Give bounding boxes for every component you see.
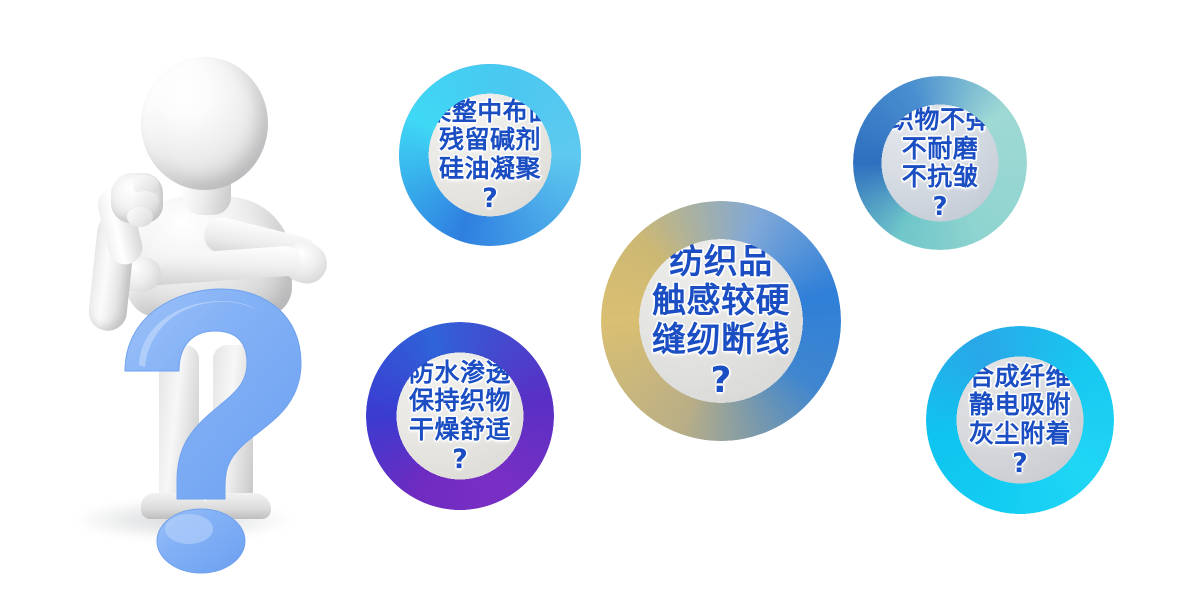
bubble-water-repellency-line-3: 干燥舒适 xyxy=(409,416,511,445)
bubble-textile-handfeel-question-mark: ? xyxy=(711,363,732,399)
bubble-water-repellency-content: 防水渗透 保持织物 干燥舒适 ? xyxy=(369,359,551,474)
bubble-fabric-performance-line-1: 织物不弹 xyxy=(889,106,991,135)
bubble-static-dust-line-2: 静电吸附 xyxy=(969,391,1071,420)
bubble-fabric-performance-question-mark: ? xyxy=(932,194,947,220)
bubble-water-repellency[interactable]: 防水渗透 保持织物 干燥舒适 ? xyxy=(369,325,551,507)
bubble-static-dust-line-3: 灰尘附着 xyxy=(969,420,1071,449)
bubble-water-repellency-line-1: 防水渗透 xyxy=(409,359,511,388)
bubble-static-dust[interactable]: 合成纤维 静电吸附 灰尘附着 ? xyxy=(929,329,1111,511)
bubble-textile-handfeel-line-2: 触感较硬 xyxy=(652,282,790,321)
bubble-static-dust-content: 合成纤维 静电吸附 灰尘附着 ? xyxy=(929,363,1111,478)
bubble-dyeing[interactable]: 染整中布面 残留碱剂 硅油凝聚 ? xyxy=(402,67,578,243)
bubble-textile-handfeel[interactable]: 纺织品 触感较硬 缝纫断线 ? xyxy=(604,204,838,438)
bubble-water-repellency-line-2: 保持织物 xyxy=(409,387,511,416)
bubble-dyeing-line-1: 染整中布面 xyxy=(426,98,554,127)
character-head xyxy=(141,57,268,190)
bubble-fabric-performance[interactable]: 织物不弹 不耐磨 不抗皱 ? xyxy=(856,79,1024,247)
bubble-dyeing-question-mark: ? xyxy=(482,185,498,212)
bubble-dyeing-line-2: 残留碱剂 xyxy=(439,126,541,155)
bubble-textile-handfeel-line-3: 缝纫断线 xyxy=(652,321,790,360)
large-question-mark-icon xyxy=(115,285,325,575)
character-knuckle xyxy=(127,207,153,227)
bubble-textile-handfeel-line-1: 纺织品 xyxy=(669,243,773,282)
bubble-fabric-performance-line-3: 不抗皱 xyxy=(902,163,979,192)
poster-canvas: 染整中布面 残留碱剂 硅油凝聚 ? 防水渗透 保持织物 干燥舒适 ? 纺织品 触… xyxy=(0,0,1200,600)
bubble-fabric-performance-line-2: 不耐磨 xyxy=(902,135,979,164)
bubble-textile-handfeel-content: 纺织品 触感较硬 缝纫断线 ? xyxy=(604,243,838,398)
bubble-fabric-performance-content: 织物不弹 不耐磨 不抗皱 ? xyxy=(856,106,1024,220)
bubble-dyeing-line-3: 硅油凝聚 xyxy=(439,155,541,184)
thinking-character-illustration xyxy=(55,45,335,545)
bubble-static-dust-line-1: 合成纤维 xyxy=(969,363,1071,392)
bubble-dyeing-content: 染整中布面 残留碱剂 硅油凝聚 ? xyxy=(402,98,578,213)
bubble-static-dust-question-mark: ? xyxy=(1012,450,1028,477)
bubble-water-repellency-question-mark: ? xyxy=(452,446,468,473)
